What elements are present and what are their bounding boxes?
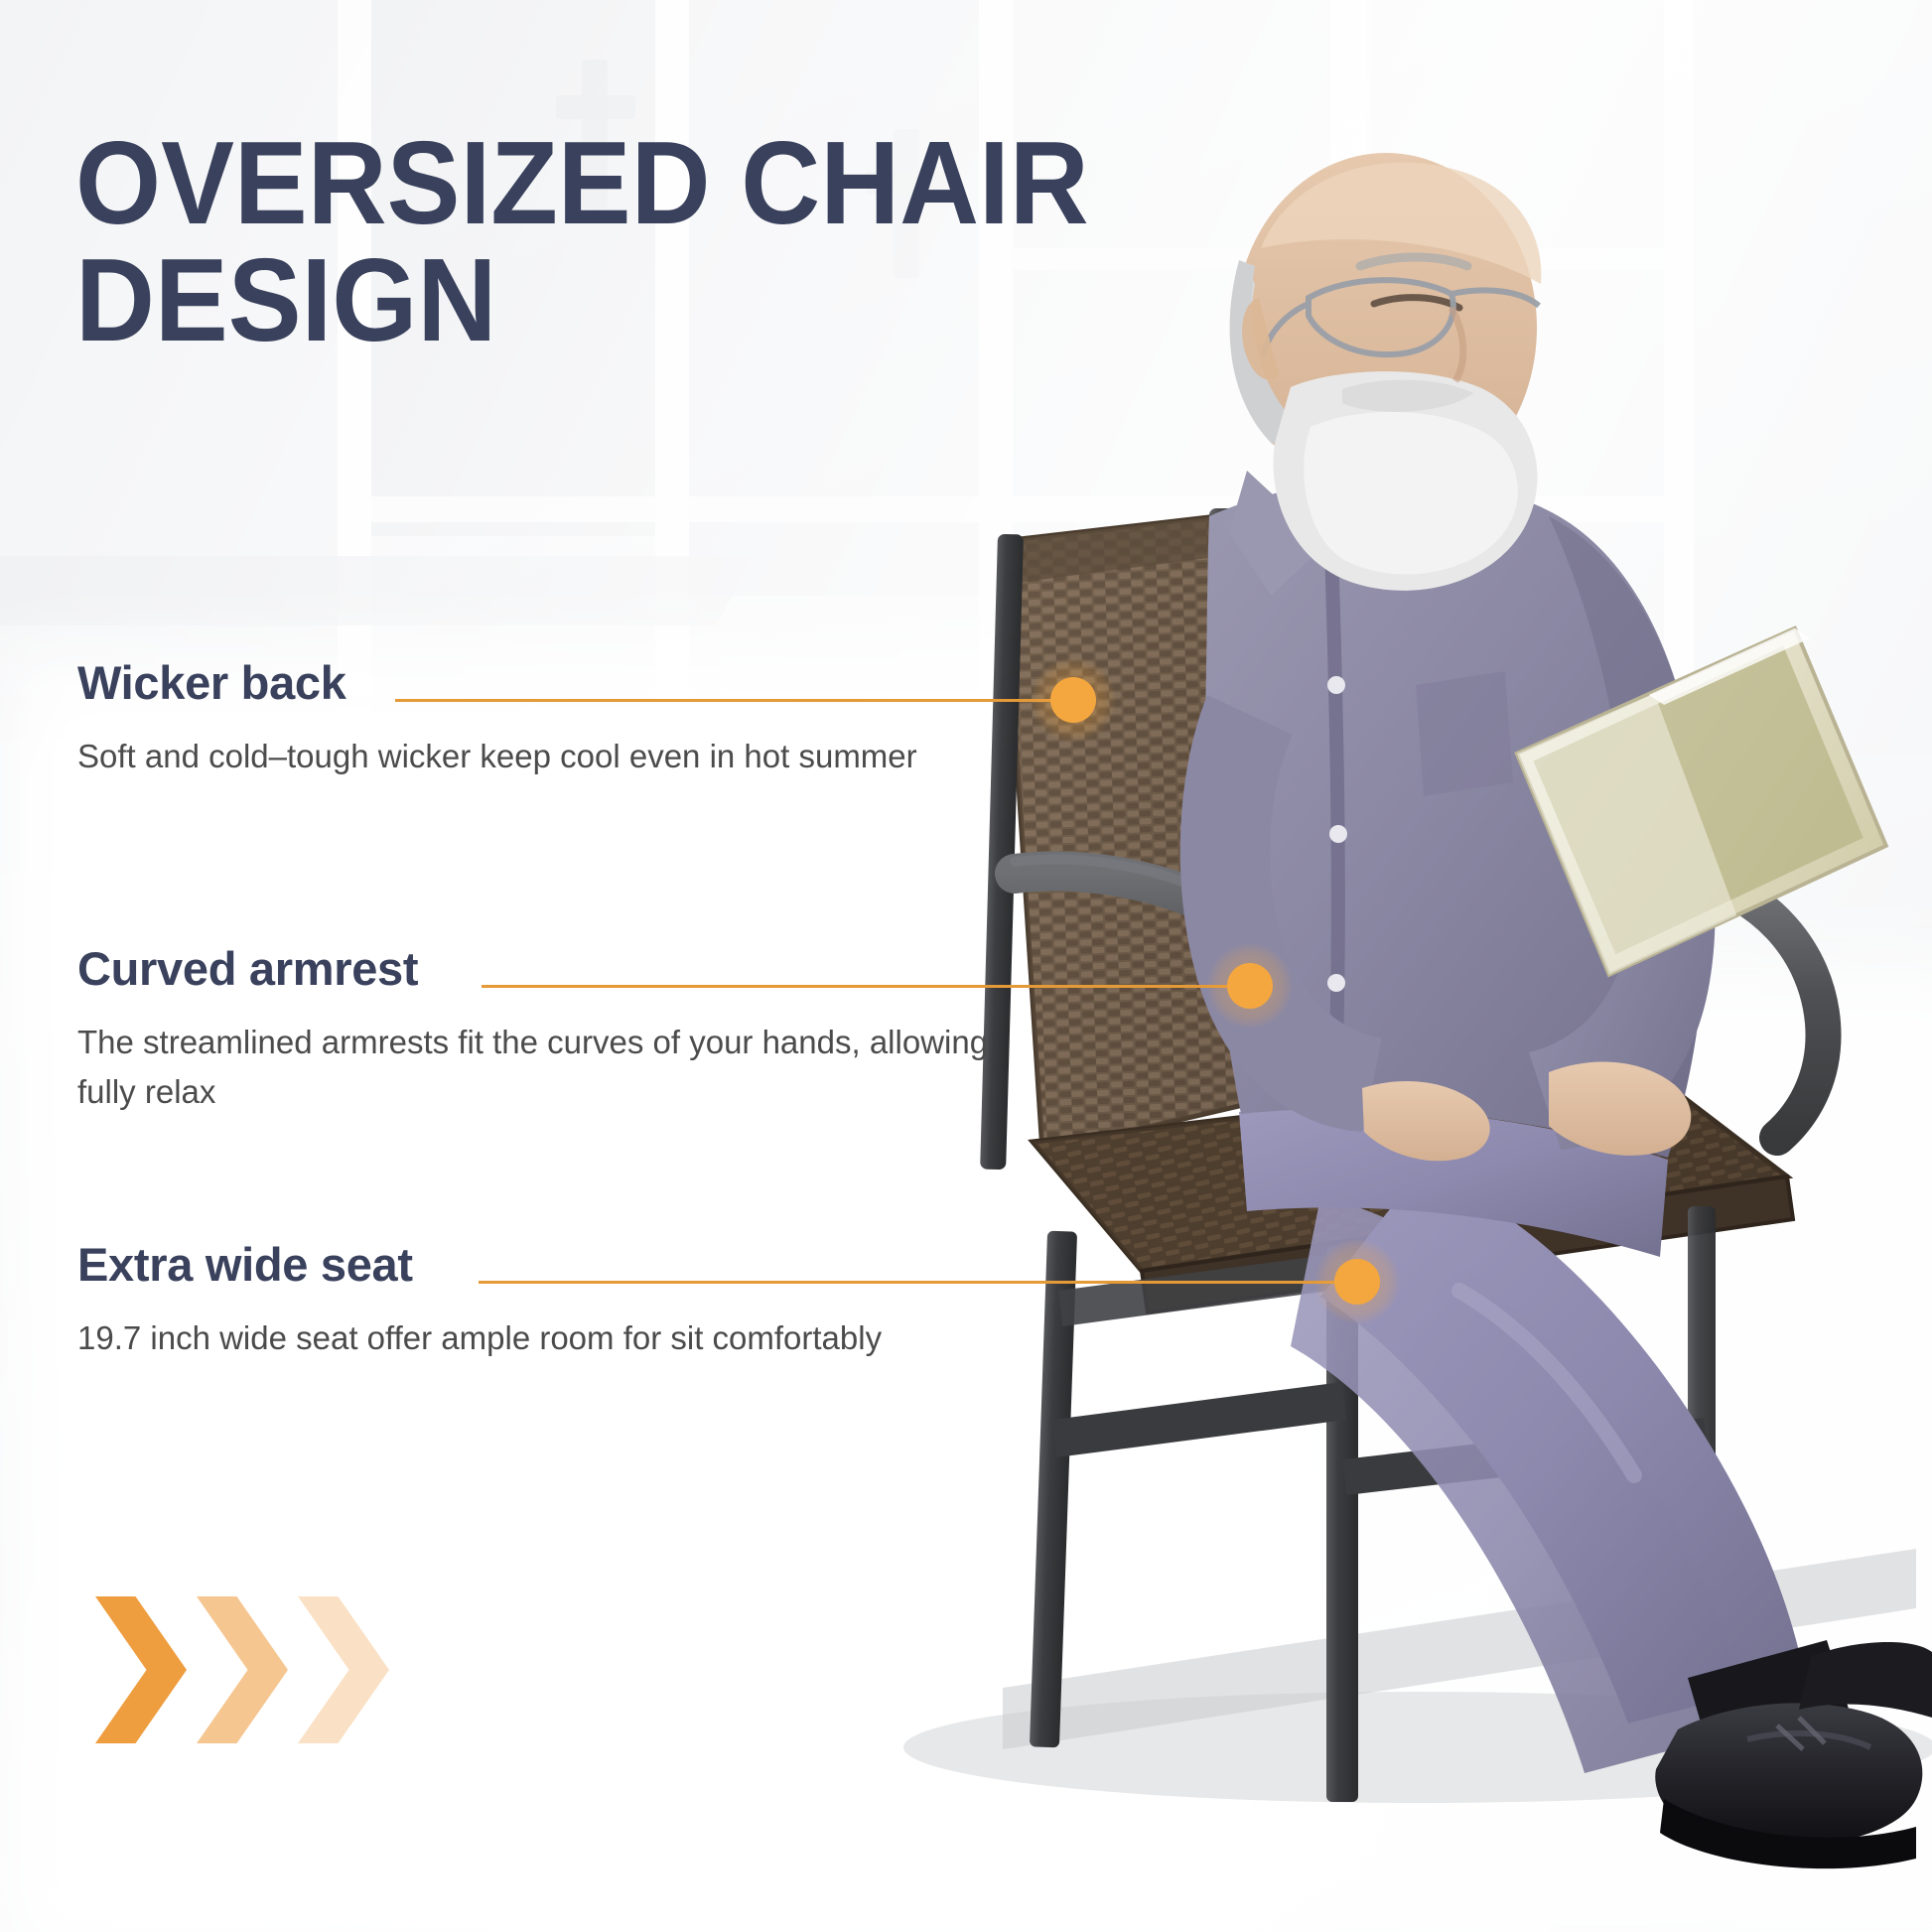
feature-title: Curved armrest (77, 941, 418, 996)
callout-dot-curved-armrest (1227, 963, 1273, 1009)
callout-dot-wicker-back (1050, 677, 1096, 723)
chevron-right-icon (298, 1596, 389, 1743)
feature-description: 19.7 inch wide seat offer ample room for… (77, 1313, 882, 1363)
page-title: OVERSIZED CHAIR DESIGN (75, 125, 1247, 359)
feature-block-curved-armrest: Curved armrest The streamlined armrests … (77, 941, 1031, 1117)
chevron-decoration (95, 1596, 389, 1743)
page-title-line-2: DESIGN (75, 242, 1165, 359)
chevron-right-icon (95, 1596, 187, 1743)
feature-title: Extra wide seat (77, 1237, 413, 1292)
callout-dot-extra-wide-seat (1334, 1259, 1380, 1305)
feature-block-wicker-back: Wicker back Soft and cold–tough wicker k… (77, 655, 917, 781)
feature-heading-row: Extra wide seat (77, 1237, 882, 1292)
chevron-right-icon (197, 1596, 288, 1743)
page-title-line-1: OVERSIZED CHAIR (75, 125, 1165, 242)
feature-description: The streamlined armrests fit the curves … (77, 1018, 1031, 1117)
feature-heading-row: Curved armrest (77, 941, 1031, 996)
feature-block-extra-wide-seat: Extra wide seat 19.7 inch wide seat offe… (77, 1237, 882, 1363)
feature-description: Soft and cold–tough wicker keep cool eve… (77, 732, 917, 781)
feature-title: Wicker back (77, 655, 346, 710)
feature-heading-row: Wicker back (77, 655, 917, 710)
